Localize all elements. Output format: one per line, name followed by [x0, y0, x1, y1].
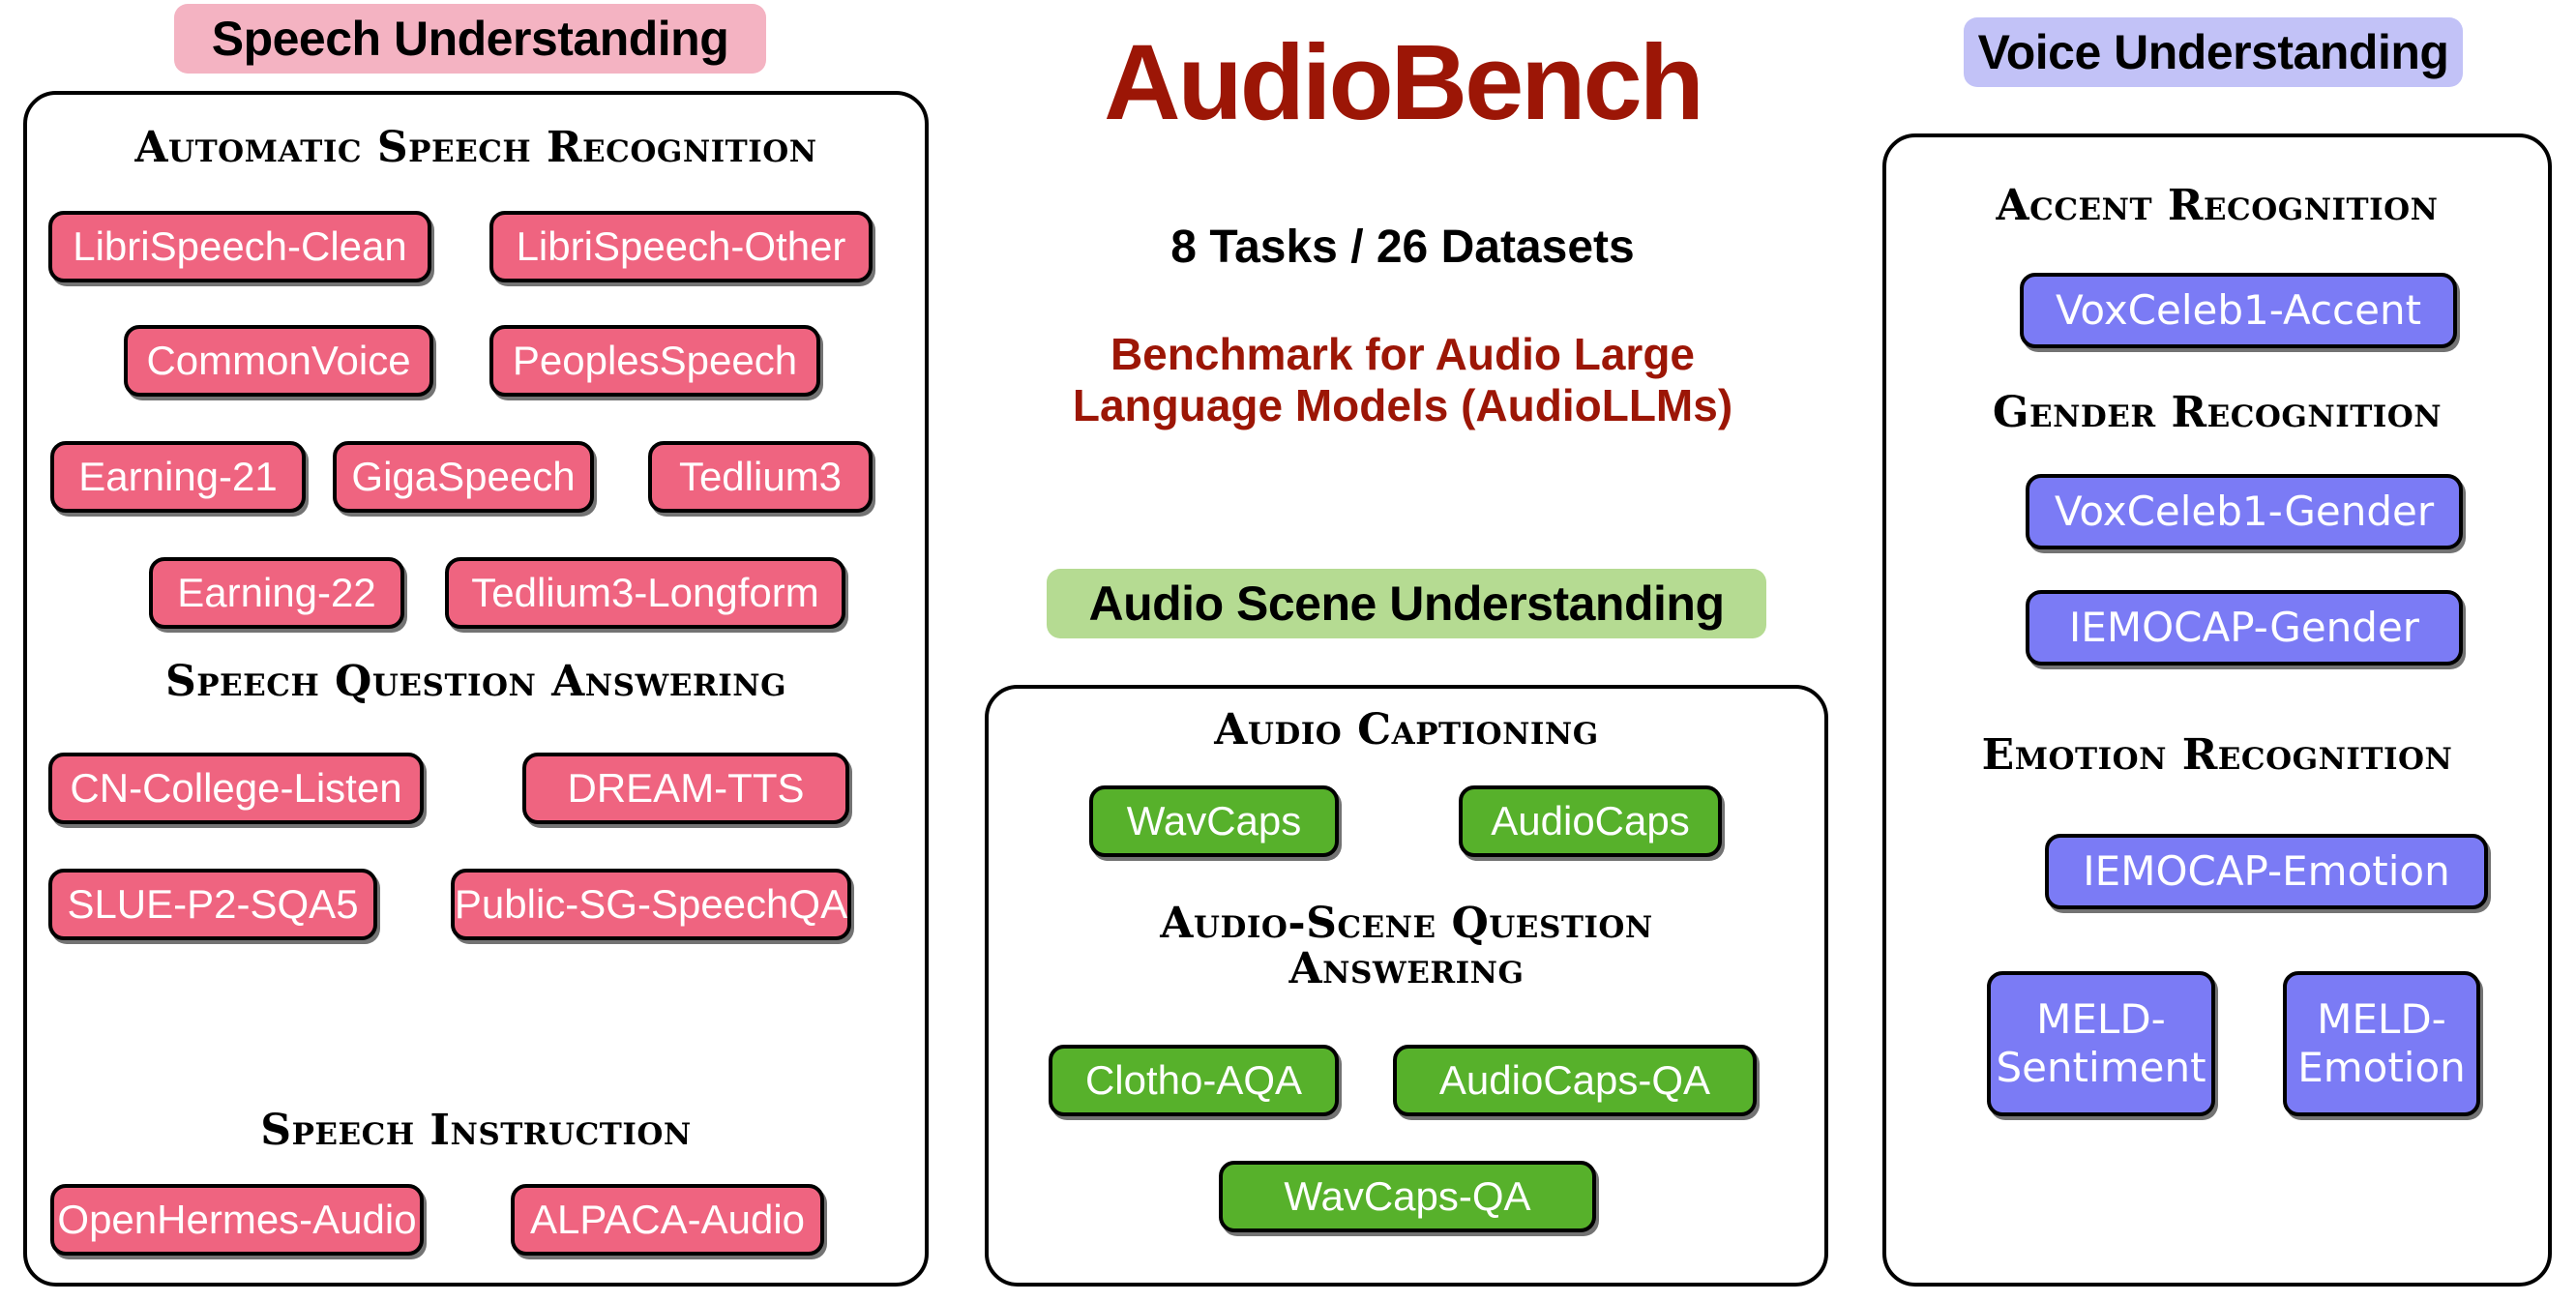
dataset-pill-tedlium3-longform[interactable]: Tedlium3-Longform — [445, 557, 845, 629]
task-heading-asr: Automatic Speech Recognition — [27, 126, 925, 171]
banner-speech-understanding: Speech Understanding — [174, 4, 766, 74]
dataset-pill-alpaca-audio[interactable]: ALPACA-Audio — [511, 1184, 824, 1256]
banner-audio-scene-understanding: Audio Scene Understanding — [1047, 569, 1766, 638]
dataset-pill-iemocap-emotion[interactable]: IEMOCAP-Emotion — [2045, 834, 2488, 909]
task-heading-audio-captioning: Audio Captioning — [989, 708, 1824, 754]
task-heading-gender-recognition: Gender Recognition — [1886, 391, 2548, 436]
task-heading-accent-recognition: Accent Recognition — [1886, 184, 2548, 229]
dataset-pill-openhermes-audio[interactable]: OpenHermes-Audio — [50, 1184, 424, 1256]
dataset-pill-audiocaps-qa[interactable]: AudioCaps-QA — [1393, 1045, 1757, 1116]
panel-voice-understanding: Accent Recognition VoxCeleb1-Accent Gend… — [1882, 133, 2552, 1287]
dataset-pill-wavcaps[interactable]: WavCaps — [1089, 785, 1339, 857]
panel-speech-understanding: Automatic Speech Recognition LibriSpeech… — [23, 91, 929, 1287]
dataset-pill-peoplesspeech[interactable]: PeoplesSpeech — [489, 325, 820, 397]
page-subtitle: Benchmark for Audio Large Language Model… — [1001, 329, 1804, 432]
dataset-pill-gigaspeech[interactable]: GigaSpeech — [333, 441, 594, 513]
poster-canvas: Speech Understanding Automatic Speech Re… — [0, 0, 2576, 1302]
dataset-pill-earning-21[interactable]: Earning-21 — [50, 441, 306, 513]
banner-voice-understanding-label: Voice Understanding — [1978, 24, 2449, 80]
page-title: AudioBench — [977, 21, 1828, 144]
dataset-pill-audiocaps[interactable]: AudioCaps — [1459, 785, 1722, 857]
task-heading-emotion-recognition: Emotion Recognition — [1886, 733, 2548, 779]
dataset-pill-earning-22[interactable]: Earning-22 — [149, 557, 404, 629]
banner-speech-understanding-label: Speech Understanding — [212, 11, 729, 67]
dataset-pill-tedlium3[interactable]: Tedlium3 — [648, 441, 873, 513]
dataset-pill-librispeech-clean[interactable]: LibriSpeech-Clean — [48, 211, 431, 282]
dataset-pill-iemocap-gender[interactable]: IEMOCAP-Gender — [2026, 590, 2463, 666]
dataset-pill-dream-tts[interactable]: DREAM-TTS — [522, 753, 849, 824]
banner-audio-scene-understanding-label: Audio Scene Understanding — [1088, 576, 1724, 632]
task-heading-speech-instruction: Speech Instruction — [27, 1109, 925, 1154]
dataset-pill-meld-sentiment[interactable]: MELD- Sentiment — [1987, 971, 2215, 1116]
banner-voice-understanding: Voice Understanding — [1964, 17, 2463, 87]
dataset-pill-wavcaps-qa[interactable]: WavCaps-QA — [1219, 1161, 1596, 1232]
dataset-pill-voxceleb1-accent[interactable]: VoxCeleb1-Accent — [2020, 273, 2457, 348]
dataset-pill-commonvoice[interactable]: CommonVoice — [124, 325, 433, 397]
dataset-pill-librispeech-other[interactable]: LibriSpeech-Other — [489, 211, 873, 282]
panel-audio-scene-understanding: Audio Captioning WavCaps AudioCaps Audio… — [985, 685, 1828, 1287]
task-heading-audio-scene-qa: Audio-Scene Question Answering — [989, 902, 1824, 991]
dataset-pill-meld-emotion[interactable]: MELD- Emotion — [2283, 971, 2480, 1116]
dataset-pill-clotho-aqa[interactable]: Clotho-AQA — [1049, 1045, 1339, 1116]
dataset-pill-slue-p2-sqa5[interactable]: SLUE-P2-SQA5 — [48, 869, 377, 940]
task-heading-speech-qa: Speech Question Answering — [27, 660, 925, 705]
task-dataset-count: 8 Tasks / 26 Datasets — [977, 221, 1828, 274]
dataset-pill-public-sg-speechqa[interactable]: Public-SG-SpeechQA — [451, 869, 851, 940]
dataset-pill-voxceleb1-gender[interactable]: VoxCeleb1-Gender — [2026, 474, 2463, 549]
dataset-pill-cn-college-listen[interactable]: CN-College-Listen — [48, 753, 424, 824]
